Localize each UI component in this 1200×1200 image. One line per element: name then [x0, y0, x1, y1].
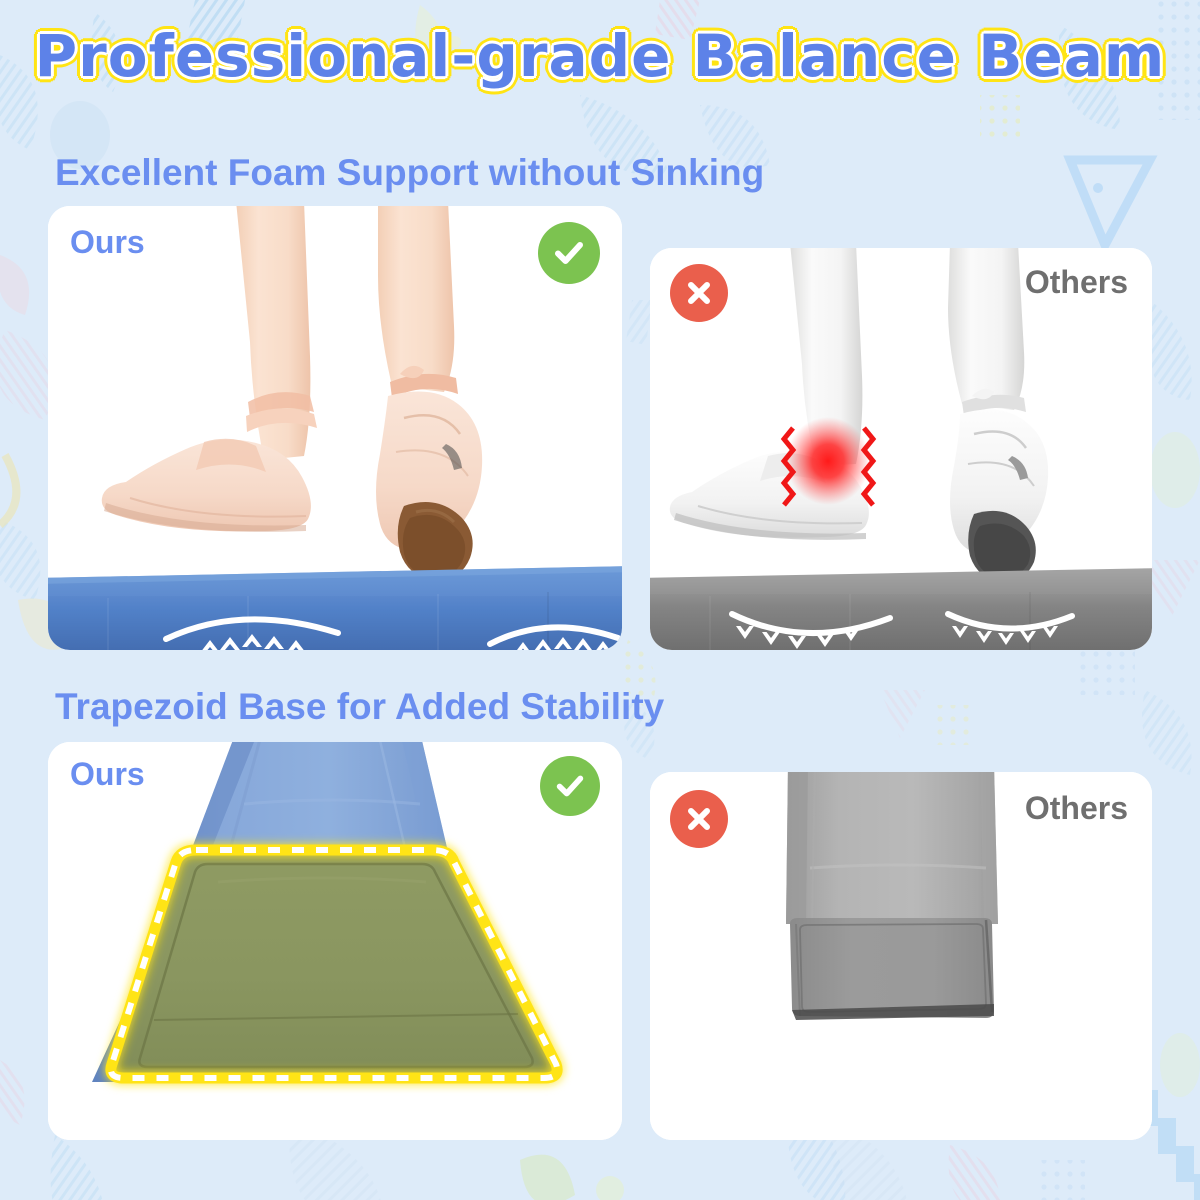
- page-title: Professional-grade Balance Beam: [35, 22, 1166, 90]
- label-others-base: Others: [1025, 790, 1128, 827]
- check-icon: [540, 756, 600, 816]
- panel-others-foam-support: Others: [650, 248, 1152, 650]
- panel-others-rectangular-base: Others: [650, 772, 1152, 1140]
- label-others-foam: Others: [1025, 264, 1128, 301]
- label-ours-base: Ours: [70, 756, 145, 793]
- panel-ours-foam-support: Ours: [48, 206, 622, 650]
- label-ours-foam: Ours: [70, 224, 145, 261]
- cross-icon: [670, 790, 728, 848]
- panel-ours-trapezoid-base: Ours: [48, 742, 622, 1140]
- photo-ours-foam-beam: [48, 206, 622, 650]
- check-icon: [538, 222, 600, 284]
- photo-others-foam-beam: [650, 248, 1152, 650]
- section-heading-trapezoid-base: Trapezoid Base for Added Stability: [55, 686, 664, 728]
- cross-icon: [670, 264, 728, 322]
- page-title-container: Professional-grade Balance Beam: [0, 22, 1200, 90]
- photo-ours-trapezoid-base: [48, 742, 622, 1140]
- section-heading-foam-support: Excellent Foam Support without Sinking: [55, 152, 764, 194]
